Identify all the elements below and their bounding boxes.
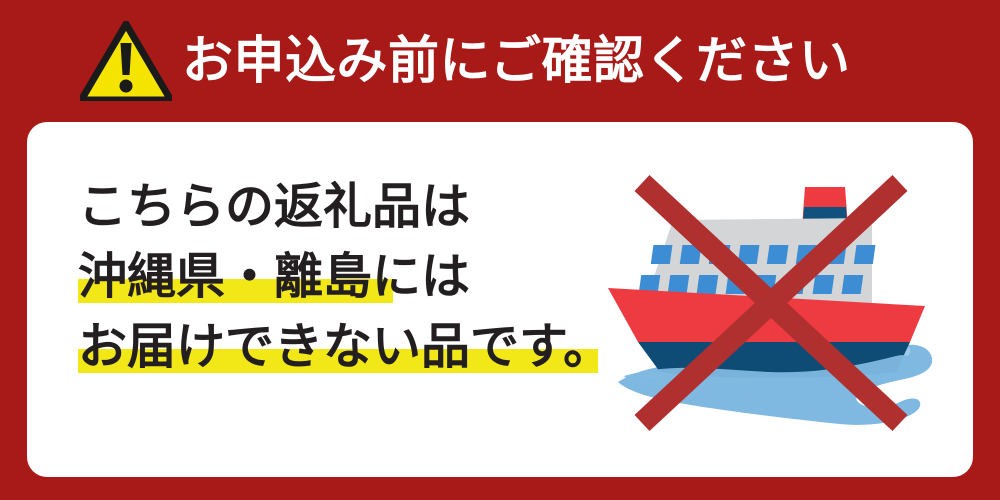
warning-triangle-icon <box>80 21 172 101</box>
message-line-3: お届けできない品です。 <box>78 312 638 382</box>
message-line-3-text: お届けできない品です。 <box>78 318 612 375</box>
banner-title: お申込み前にご確認ください <box>182 36 850 87</box>
message-line-1-text: こちらの返礼品は <box>78 178 470 235</box>
announcement-banner: お申込み前にご確認ください こちらの返礼品は 沖縄県・離島には お届けできない品… <box>0 0 1000 500</box>
message-line-2: 沖縄県・離島には <box>78 242 638 312</box>
notice-card: こちらの返礼品は 沖縄県・離島には お届けできない品です。 <box>27 122 973 477</box>
message-line-2-text: 沖縄県・離島には <box>78 248 470 305</box>
message-line-1: こちらの返礼品は <box>78 172 638 242</box>
banner-header: お申込み前にご確認ください <box>0 0 1000 122</box>
ship-prohibited-illustration <box>600 170 945 435</box>
notice-message: こちらの返礼品は 沖縄県・離島には お届けできない品です。 <box>78 172 638 382</box>
